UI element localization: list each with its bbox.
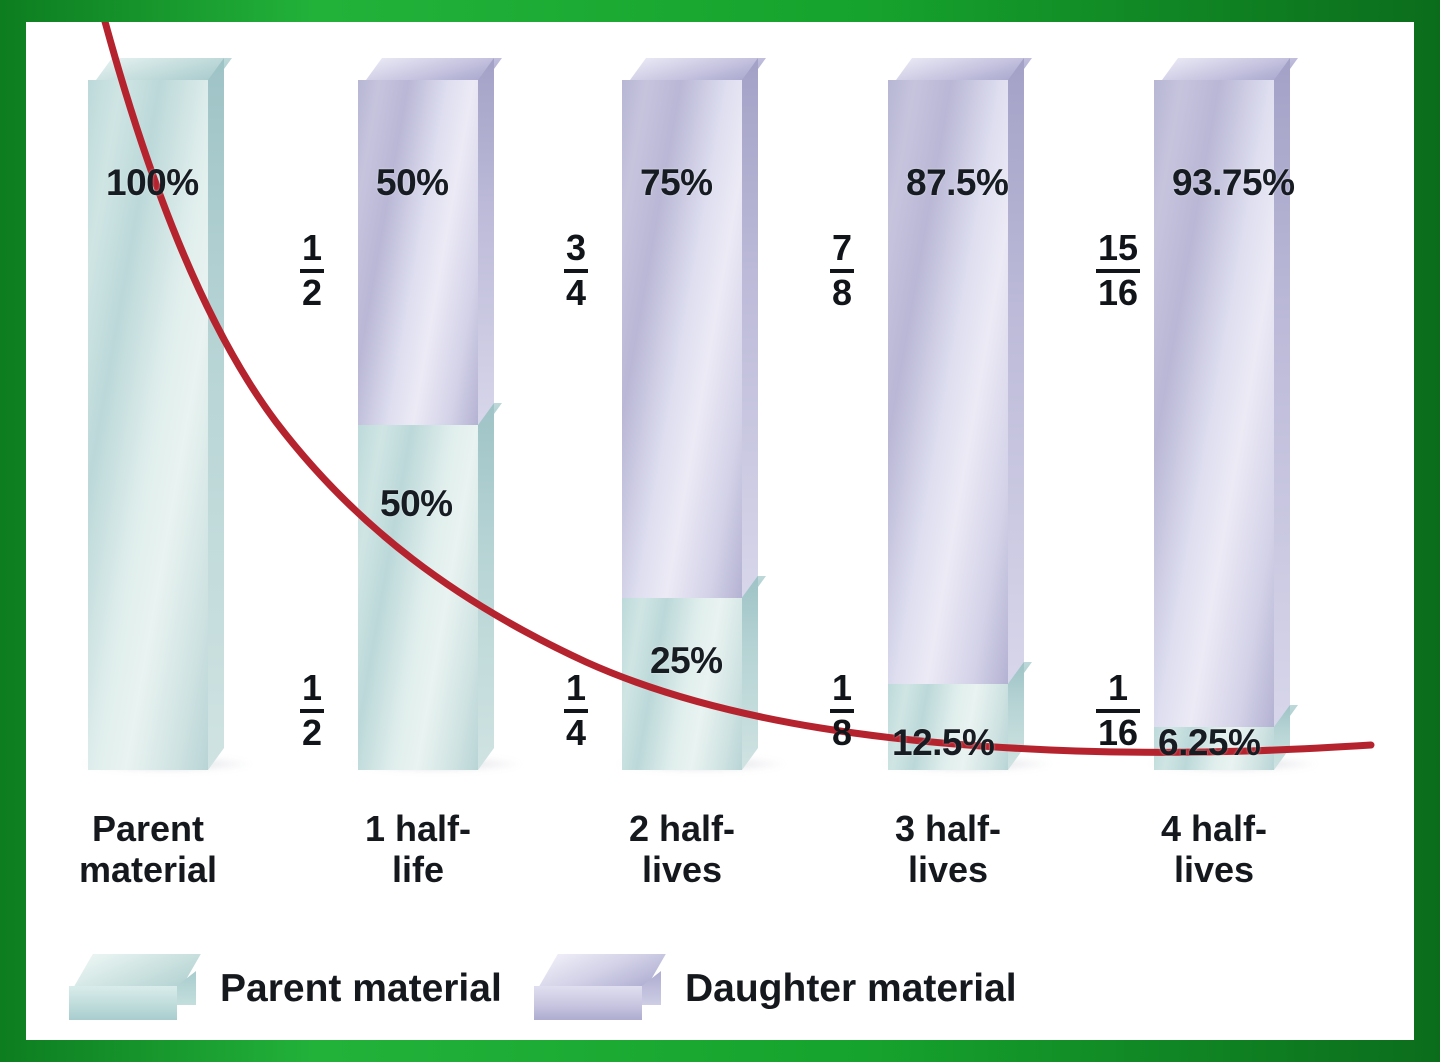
x-axis-label-3: 3 half-lives xyxy=(828,808,1068,890)
legend-label-parent: Parent material xyxy=(220,967,502,1011)
parent-percent-label-1: 50% xyxy=(380,483,453,525)
box-side-face xyxy=(478,403,494,770)
parent-fraction-label-2: 14 xyxy=(564,670,588,751)
parent-fraction-label-4: 116 xyxy=(1096,670,1140,751)
x-axis-label-2: 2 half-lives xyxy=(562,808,802,890)
daughter-fraction-label-1: 12 xyxy=(300,230,324,311)
x-axis-label-line1: 1 half- xyxy=(298,808,538,849)
x-axis-label-line1: 2 half- xyxy=(562,808,802,849)
parent-material-swatch-icon xyxy=(66,952,198,1026)
x-axis-label-0: Parentmaterial xyxy=(28,808,268,890)
box-front-face xyxy=(358,80,478,425)
box-front-face xyxy=(622,80,742,598)
daughter-material-swatch-icon xyxy=(531,952,663,1026)
box-side-face xyxy=(1008,58,1024,684)
parent-percent-label-2: 25% xyxy=(650,640,723,682)
daughter-material-segment xyxy=(358,80,478,425)
x-axis-label-4: 4 half-lives xyxy=(1094,808,1334,890)
x-axis-label-line1: 3 half- xyxy=(828,808,1068,849)
parent-percent-label-4: 6.25% xyxy=(1158,722,1260,764)
box-side-face xyxy=(742,576,758,771)
x-axis-label-line2: lives xyxy=(828,849,1068,890)
x-axis-label-line2: life xyxy=(298,849,538,890)
x-axis-label-line1: Parent xyxy=(28,808,268,849)
parent-fraction-label-1: 12 xyxy=(300,670,324,751)
chart-canvas: Parent material Daughter material 100%Pa… xyxy=(26,22,1414,1040)
box-side-face xyxy=(208,58,224,770)
x-axis-label-line2: lives xyxy=(562,849,802,890)
daughter-percent-label-1: 50% xyxy=(376,162,449,204)
x-axis-label-line1: 4 half- xyxy=(1094,808,1334,849)
daughter-fraction-label-4: 1516 xyxy=(1096,230,1140,311)
green-figure-frame: Parent material Daughter material 100%Pa… xyxy=(0,0,1440,1062)
parent-material-segment xyxy=(622,598,742,771)
parent-fraction-label-3: 18 xyxy=(830,670,854,751)
box-front-face xyxy=(622,598,742,771)
chart-legend: Parent material Daughter material xyxy=(26,930,1414,1026)
daughter-percent-label-3: 87.5% xyxy=(906,162,1008,204)
legend-item-parent: Parent material xyxy=(66,952,502,1026)
x-axis-label-1: 1 half-life xyxy=(298,808,538,890)
box-front-face xyxy=(358,425,478,770)
box-side-face xyxy=(1274,58,1290,727)
daughter-percent-label-2: 75% xyxy=(640,162,713,204)
daughter-fraction-label-2: 34 xyxy=(564,230,588,311)
box-side-face xyxy=(478,58,494,425)
legend-label-daughter: Daughter material xyxy=(685,967,1017,1011)
daughter-percent-label-4: 93.75% xyxy=(1172,162,1295,204)
x-axis-label-line2: material xyxy=(28,849,268,890)
legend-item-daughter: Daughter material xyxy=(531,952,1017,1026)
x-axis-label-line2: lives xyxy=(1094,849,1334,890)
daughter-material-segment xyxy=(622,80,742,598)
box-side-face xyxy=(742,58,758,598)
parent-percent-label-3: 12.5% xyxy=(892,722,994,764)
parent-material-segment xyxy=(358,425,478,770)
parent-percent-label-0: 100% xyxy=(106,162,199,204)
daughter-fraction-label-3: 78 xyxy=(830,230,854,311)
figure-inner-panel: Parent material Daughter material 100%Pa… xyxy=(26,22,1414,1040)
